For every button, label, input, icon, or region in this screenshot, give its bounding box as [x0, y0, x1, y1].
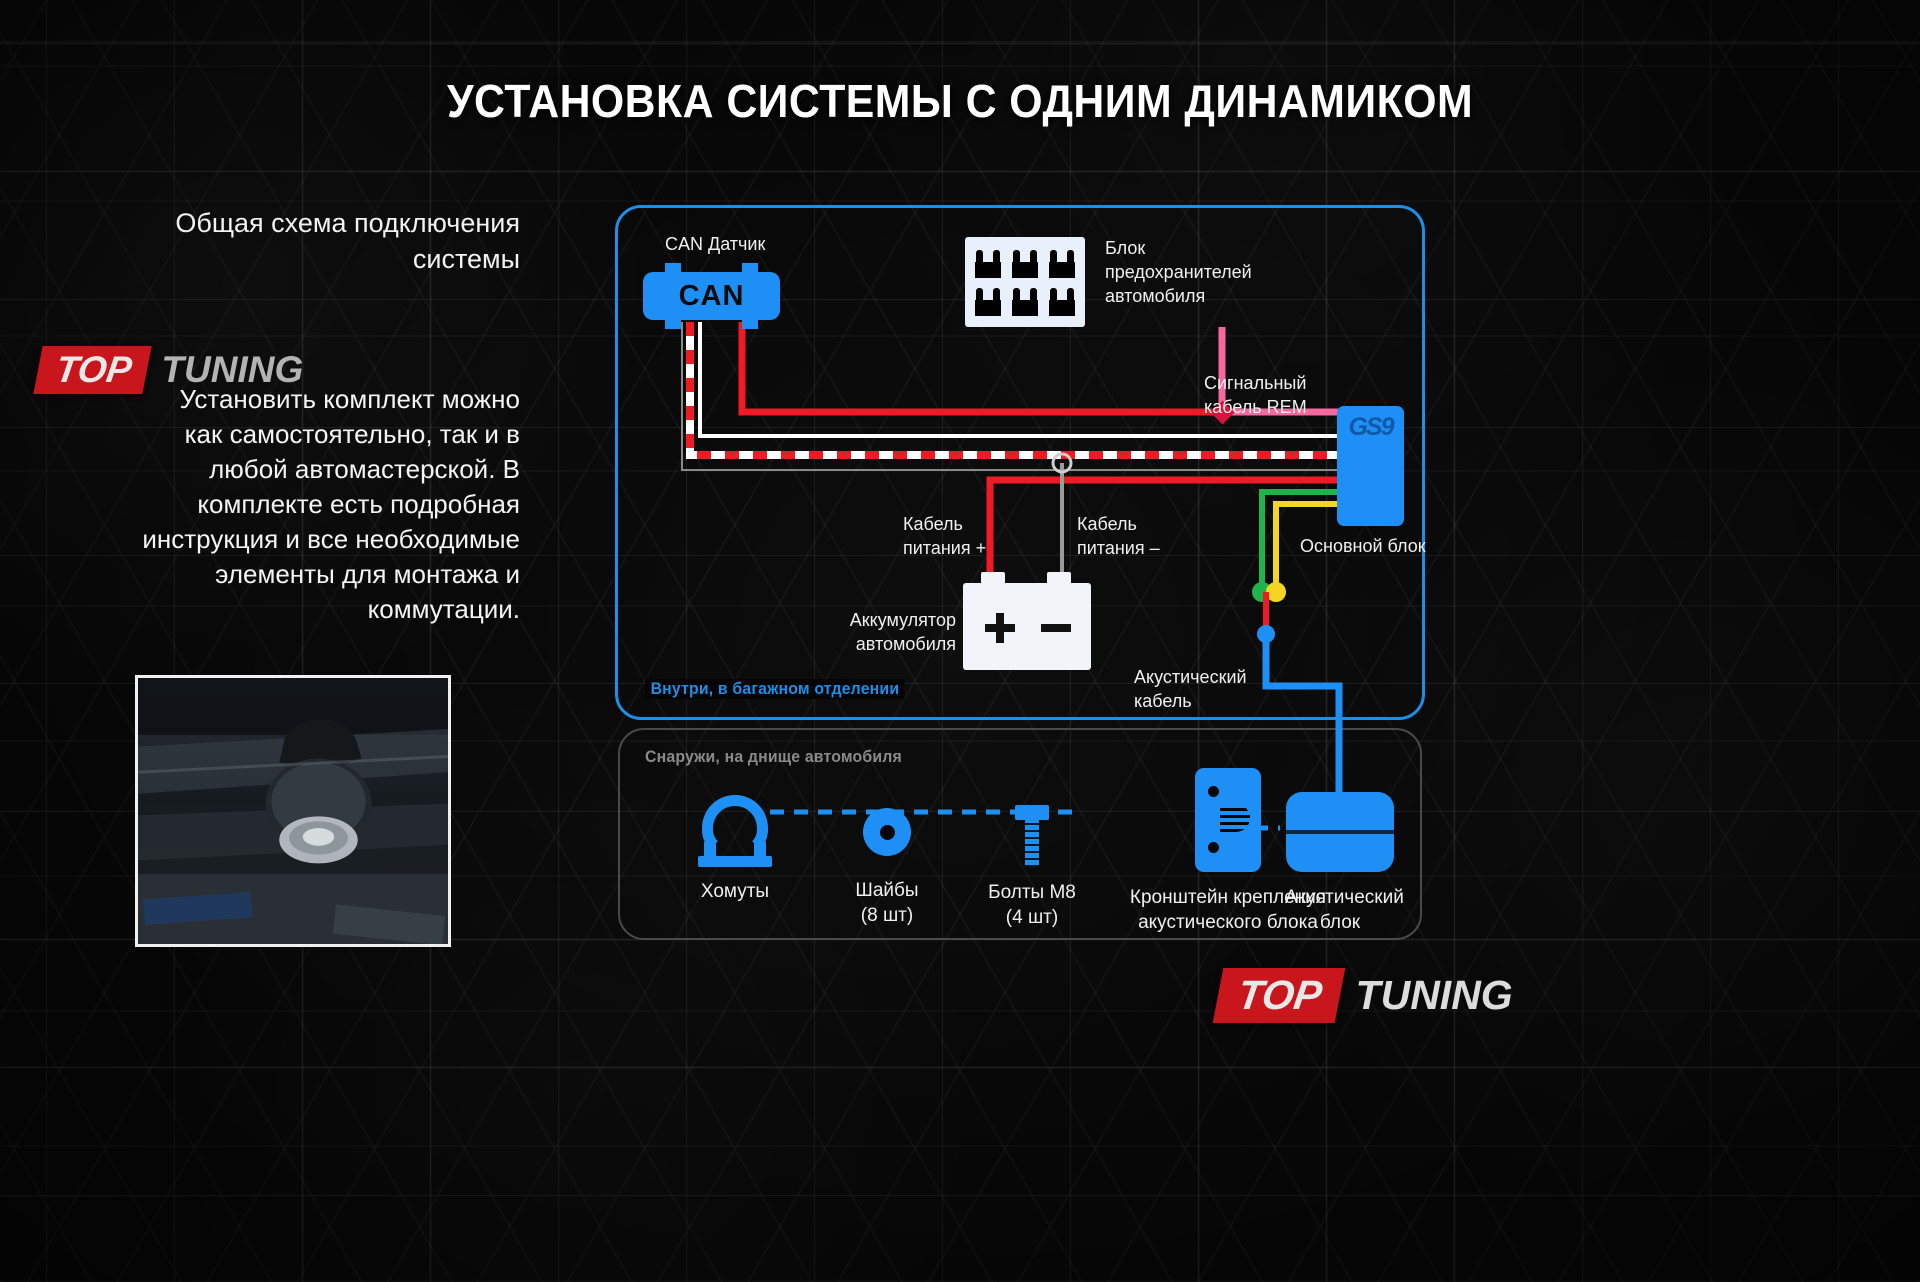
fuse-icon: [1010, 285, 1041, 319]
part-washers: Шайбы (8 шт): [827, 808, 947, 928]
battery-label-line-2: автомобиля: [846, 632, 956, 656]
can-sensor-text: CAN: [679, 280, 745, 313]
wire-can-power-red: [742, 322, 1222, 412]
battery-label-line-1: Аккумулятор: [846, 608, 956, 632]
battery-terminal-cap-left: [981, 572, 1005, 583]
acoustic-block-icon: [1286, 792, 1394, 872]
footer-logo-top-badge: TOP: [1213, 968, 1345, 1023]
power-plus-label-line-2: питания +: [903, 536, 986, 560]
footer-brand-logo: TOP TUNING: [1218, 966, 1513, 1024]
can-sensor-module: CAN: [643, 272, 780, 320]
fuse-icon: [973, 246, 1004, 280]
fuse-icon: [1046, 246, 1077, 280]
battery-plus-icon: [985, 613, 1015, 643]
infographic-canvas: УСТАНОВКА СИСТЕМЫ С ОДНИМ ДИНАМИКОМ Обща…: [0, 0, 1920, 1282]
acoustic-cable-label: Акустический кабель: [1134, 665, 1247, 713]
main-unit-brand-logo: GS9: [1348, 413, 1392, 442]
fuse-box: [965, 237, 1085, 327]
part-bolts-caption: Болты М8 (4 шт): [972, 880, 1092, 930]
part-bolts-caption-line-1: Болты М8: [972, 880, 1092, 905]
part-washers-caption-line-1: Шайбы: [827, 878, 947, 903]
clamp-icon: [698, 795, 772, 867]
fuse-box-label-line-2: предохранителей: [1105, 260, 1252, 284]
power-minus-label-line-1: Кабель: [1077, 512, 1160, 536]
washer-icon: [863, 808, 911, 856]
footer-logo-top-text: TOP: [1235, 972, 1325, 1019]
part-acoustic-caption-line-2: блок: [1285, 910, 1395, 935]
battery-terminal-cap-right: [1047, 572, 1071, 583]
part-washers-caption: Шайбы (8 шт): [827, 878, 947, 928]
main-unit-block: GS9: [1337, 406, 1404, 526]
wire-power-plus-red: [990, 480, 1340, 585]
battery-minus-icon: [1041, 624, 1071, 632]
fuse-box-label-line-3: автомобиля: [1105, 284, 1252, 308]
panel-outside-label: Снаружи, на днище автомобиля: [645, 747, 902, 767]
part-clamps-caption-line-1: Хомуты: [675, 879, 795, 904]
power-plus-cable-label: Кабель питания +: [903, 512, 986, 560]
acoustic-cable-label-line-2: кабель: [1134, 689, 1247, 713]
part-acoustic-caption: Акустический блок: [1285, 885, 1395, 935]
wiring-layer: [0, 0, 1920, 1282]
part-acoustic-block: Акустический блок: [1285, 792, 1395, 935]
rem-cable-label-line-2: кабель REM: [1204, 395, 1307, 419]
fuse-icon: [1010, 246, 1041, 280]
power-minus-cable-label: Кабель питания –: [1077, 512, 1160, 560]
power-minus-label-line-2: питания –: [1077, 536, 1160, 560]
part-washers-caption-line-2: (8 шт): [827, 903, 947, 928]
main-unit-label: Основной блок: [1300, 534, 1426, 558]
part-bolts-caption-line-2: (4 шт): [972, 905, 1092, 930]
panel-inside-label: Внутри, в багажном отделении: [645, 679, 905, 699]
fuse-icon: [973, 285, 1004, 319]
part-clamps: Хомуты: [675, 795, 795, 904]
can-sensor-label: CAN Датчик: [665, 232, 765, 256]
bolt-icon: [1015, 805, 1049, 867]
bracket-icon: [1195, 768, 1261, 872]
fuse-box-label-line-1: Блок: [1105, 236, 1252, 260]
fuse-icon: [1046, 285, 1077, 319]
part-clamps-caption: Хомуты: [675, 879, 795, 904]
acoustic-cable-label-line-1: Акустический: [1134, 665, 1247, 689]
power-plus-label-line-1: Кабель: [903, 512, 986, 536]
car-battery: [963, 583, 1091, 670]
rem-cable-label: Сигнальный кабель REM: [1204, 371, 1307, 419]
rem-cable-label-line-1: Сигнальный: [1204, 371, 1307, 395]
footer-logo-tuning-text: TUNING: [1356, 972, 1513, 1019]
part-bolts: Болты М8 (4 шт): [972, 805, 1092, 930]
fuse-box-label: Блок предохранителей автомобиля: [1105, 236, 1252, 308]
can-sensor-connector-nubs: [643, 319, 780, 329]
part-acoustic-caption-line-1: Акустический: [1285, 885, 1395, 910]
battery-label: Аккумулятор автомобиля: [846, 608, 956, 656]
